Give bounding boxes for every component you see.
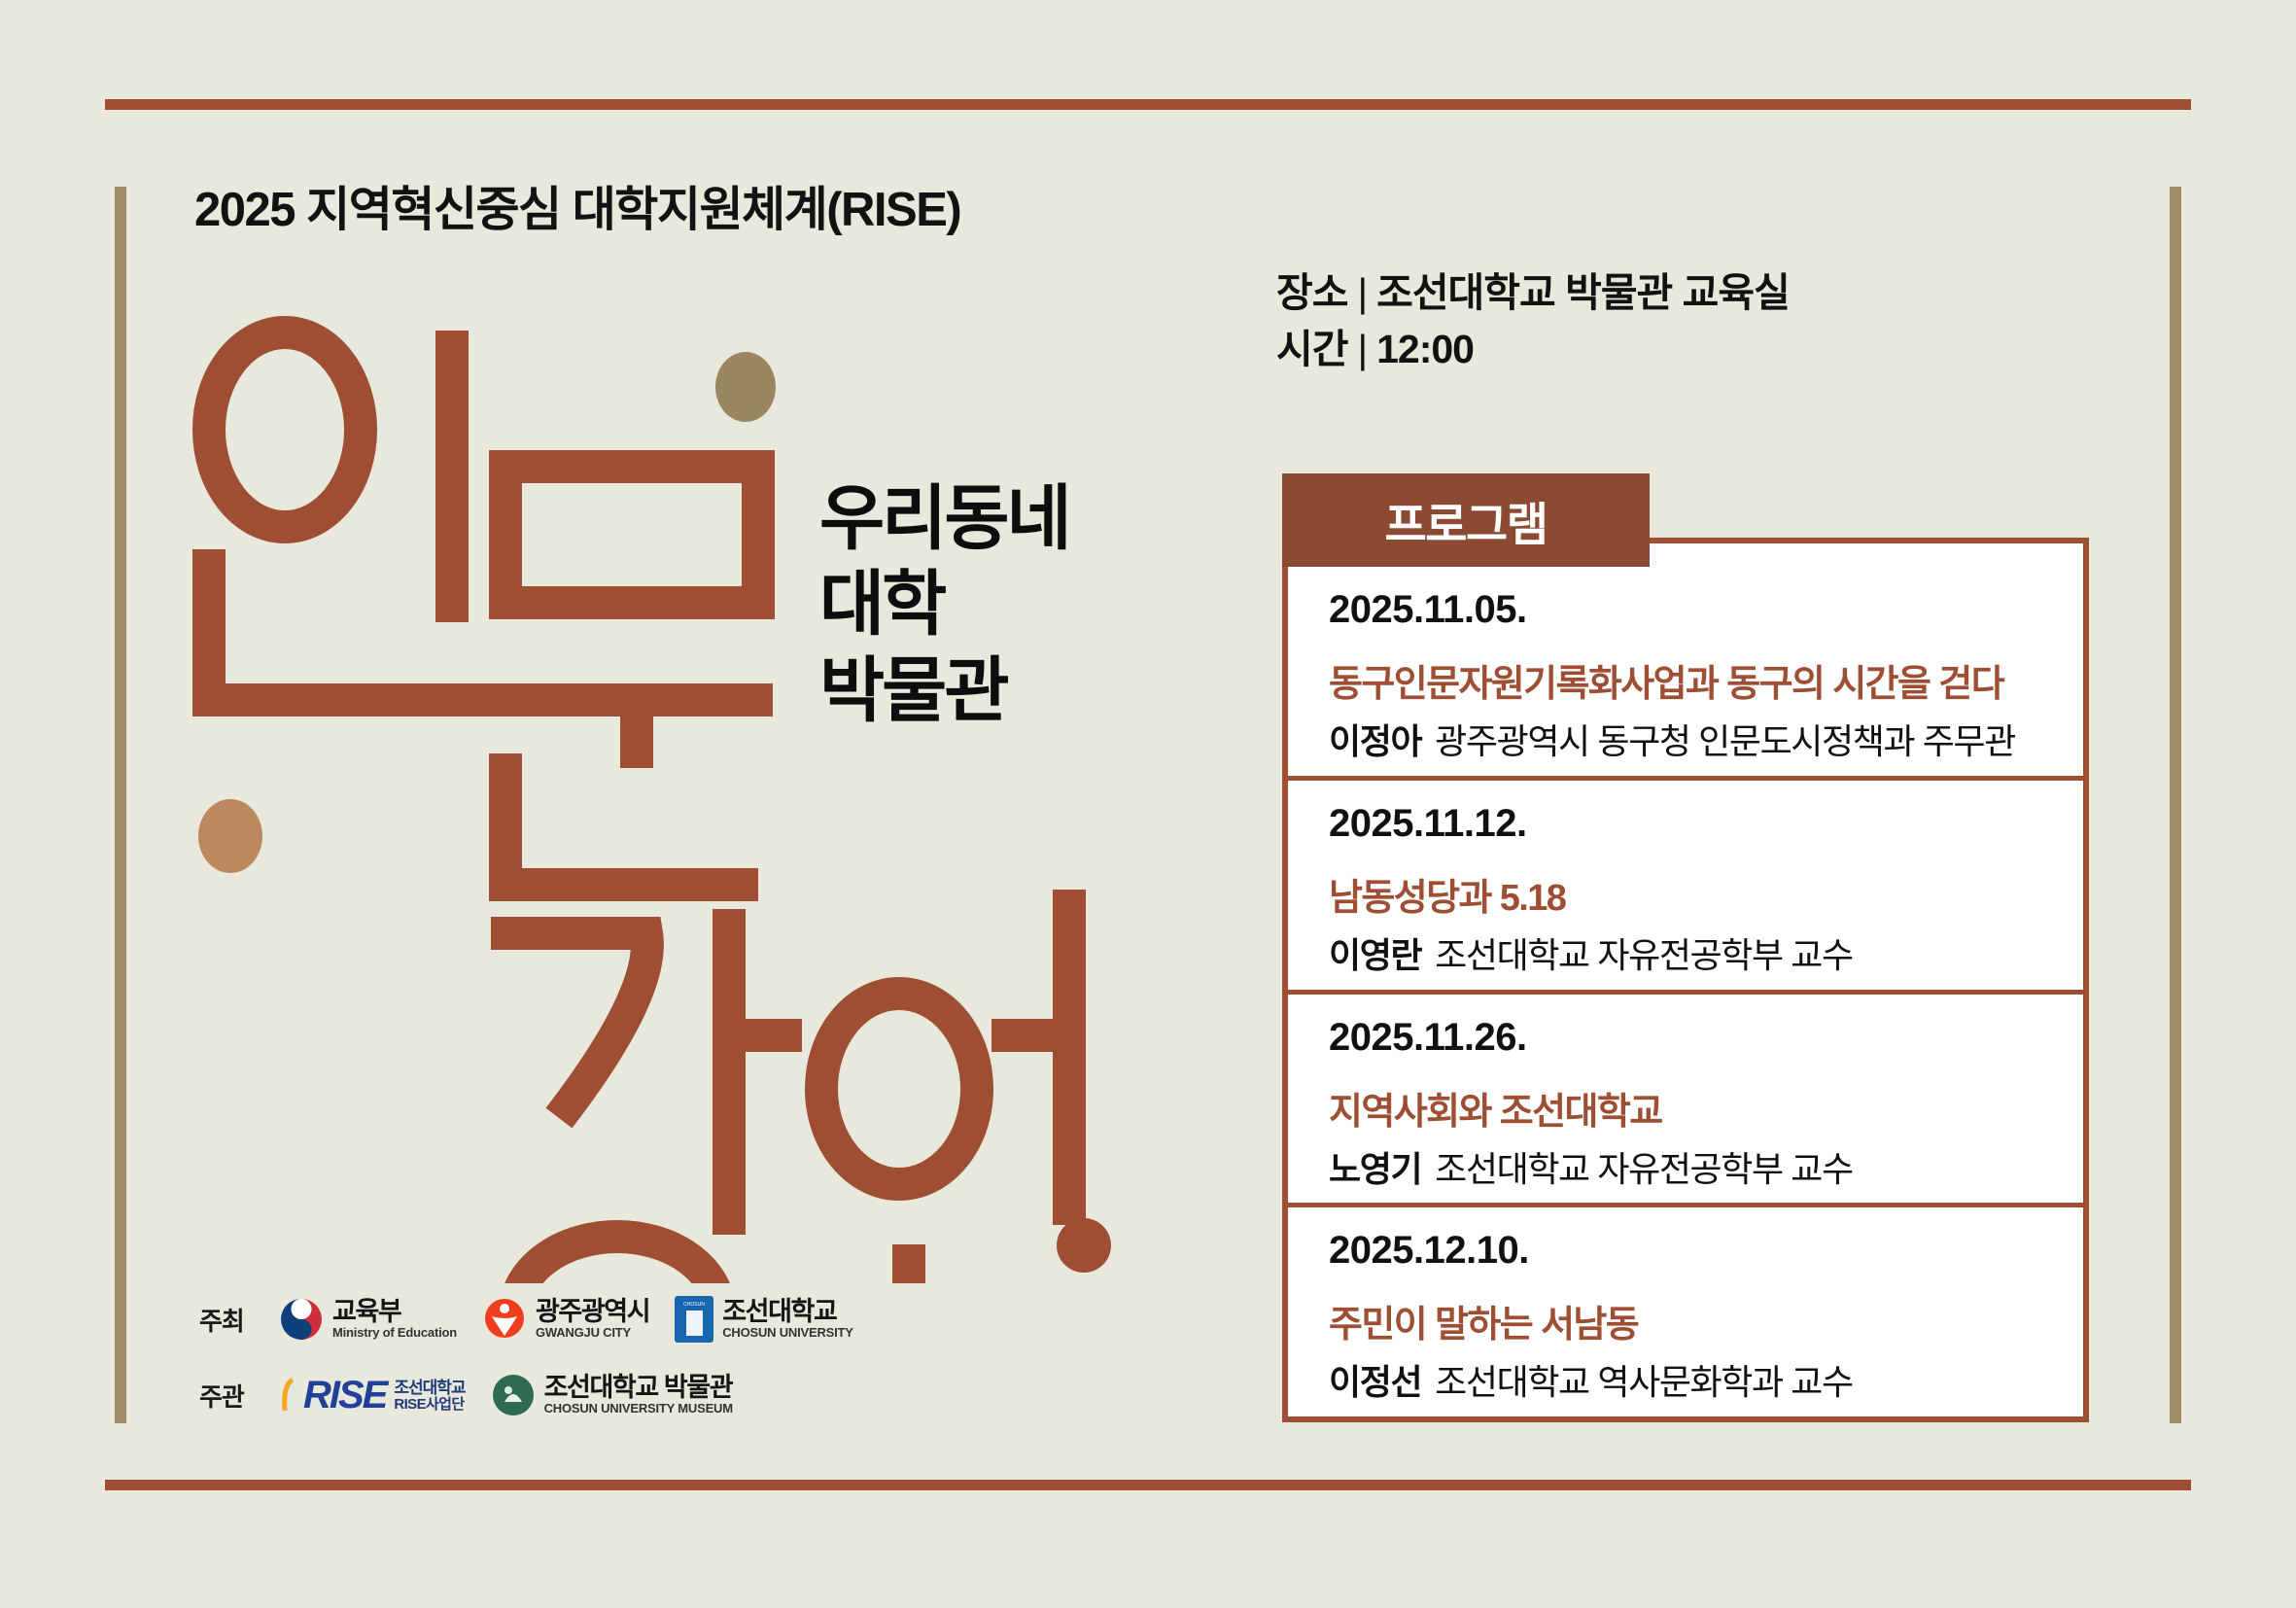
- place-value: 조선대학교 박물관 교육실: [1376, 270, 1790, 315]
- hero-subtitle-line-1: 우리동네: [819, 476, 1069, 562]
- logo-name-ko-2: RISE사업단: [394, 1397, 465, 1412]
- program-date: 2025.11.05.: [1329, 588, 2042, 632]
- host-row: 주최 교육부 Ministry of Education: [199, 1281, 899, 1357]
- poster-canvas: 2025 지역혁신중심 대학지원체계(RISE) 장소|조선대학교 박물관 교육…: [0, 0, 2296, 1608]
- time-value: 12:00: [1376, 327, 1474, 371]
- program-speaker-name: 이정선: [1329, 1362, 1421, 1402]
- logo-gwangju-city: 광주광역시 GWANGJU CITY: [482, 1297, 649, 1342]
- program-speaker-name: 이영란: [1329, 935, 1421, 975]
- hero-subtitle-line-2: 대학: [819, 562, 1069, 647]
- logo-name-en: GWANGJU CITY: [536, 1326, 649, 1339]
- svg-text:CHOSUN: CHOSUN: [683, 1302, 705, 1308]
- taegeuk-icon: [279, 1297, 324, 1342]
- glyph-mieum: [505, 467, 758, 603]
- program-date: 2025.11.12.: [1329, 802, 2042, 846]
- program-speaker-name: 노영기: [1329, 1149, 1421, 1189]
- rise-swoosh-icon: [279, 1376, 295, 1415]
- program-item: 2025.11.26. 지역사회와 조선대학교 노영기조선대학교 자유전공학부 …: [1288, 995, 2083, 1208]
- program-kicker: 2025 지역혁신중심 대학지원체계(RISE): [194, 171, 960, 240]
- time-separator: |: [1347, 327, 1376, 371]
- decorative-dot-brown: [1057, 1218, 1111, 1273]
- hero-lettering-svg: [170, 311, 1176, 1283]
- program-item: 2025.12.10. 주민이 말하는 서남동 이정선조선대학교 역사문화학과 …: [1288, 1207, 2083, 1416]
- organizer-row: 주관 RISE 조선대학교 RISE사업단 조선대학교 박물관: [199, 1357, 899, 1433]
- logo-chosun-university-museum: 조선대학교 박물관 CHOSUN UNIVERSITY MUSEUM: [491, 1373, 733, 1417]
- right-accent-bar: [2170, 187, 2181, 1423]
- program-speaker-affiliation: 조선대학교 자유전공학부 교수: [1421, 935, 1853, 975]
- program-speaker-affiliation: 조선대학교 역사문화학과 교수: [1421, 1362, 1853, 1402]
- logo-name-ko: 조선대학교 박물관: [544, 1375, 733, 1402]
- organizer-label: 주관: [199, 1378, 279, 1414]
- logo-text: 광주광역시 GWANGJU CITY: [536, 1299, 649, 1339]
- program-title: 주민이 말하는 서남동: [1329, 1294, 2042, 1347]
- program-speaker-affiliation: 조선대학교 자유전공학부 교수: [1421, 1149, 1853, 1189]
- event-details: 장소|조선대학교 박물관 교육실 시간|12:00: [1276, 264, 1790, 377]
- program-date: 2025.11.26.: [1329, 1016, 2042, 1060]
- logo-name-en: CHOSUN UNIVERSITY MUSEUM: [544, 1402, 733, 1415]
- program-speaker: 이정아광주광역시 동구청 인문도시정책과 주무관: [1329, 714, 2042, 764]
- hero-lettering: [170, 311, 1176, 1283]
- bottom-rule: [105, 1480, 2191, 1490]
- logo-text: 조선대학교 박물관 CHOSUN UNIVERSITY MUSEUM: [544, 1375, 733, 1415]
- place-line: 장소|조선대학교 박물관 교육실: [1276, 264, 1790, 321]
- glyph-ieung-3: [821, 994, 977, 1184]
- program-date: 2025.12.10.: [1329, 1229, 2042, 1273]
- program-speaker: 이정선조선대학교 역사문화학과 교수: [1329, 1354, 2042, 1405]
- hero-subtitle-line-3: 박물관: [819, 648, 1069, 734]
- logo-name-en: Ministry of Education: [332, 1326, 457, 1339]
- program-title: 동구인문자원기록화사업과 동구의 시간을 걷다: [1329, 653, 2042, 707]
- program-tab-label: 프로그램: [1385, 487, 1548, 554]
- logo-name-ko: 조선대학교: [722, 1299, 853, 1326]
- program-speaker-name: 이정아: [1329, 721, 1421, 761]
- logo-text: 조선대학교 RISE사업단: [394, 1379, 465, 1412]
- time-line: 시간|12:00: [1276, 321, 1790, 377]
- gwangju-emblem-icon: [482, 1297, 527, 1342]
- logo-name-ko: 광주광역시: [536, 1299, 649, 1326]
- program-tab: 프로그램: [1282, 473, 1650, 567]
- logo-name-ko: 조선대학교: [394, 1379, 465, 1397]
- glyph-nieun-2: [505, 753, 758, 885]
- credits-block: 주최 교육부 Ministry of Education: [199, 1281, 899, 1433]
- logo-ministry-of-education: 교육부 Ministry of Education: [279, 1297, 457, 1342]
- logo-chosun-university: CHOSUN 조선대학교 CHOSUN UNIVERSITY: [675, 1296, 853, 1343]
- left-accent-bar: [115, 187, 126, 1423]
- time-label: 시간: [1276, 327, 1347, 371]
- logo-name-ko: 교육부: [332, 1299, 457, 1326]
- decorative-dot-tan: [198, 799, 262, 873]
- logo-text: 교육부 Ministry of Education: [332, 1299, 457, 1339]
- program-title: 지역사회와 조선대학교: [1329, 1081, 2042, 1135]
- place-separator: |: [1347, 270, 1376, 315]
- place-label: 장소: [1276, 270, 1347, 315]
- program-title: 남동성당과 5.18: [1329, 867, 2042, 921]
- logo-rise-project-group: RISE 조선대학교 RISE사업단: [279, 1376, 466, 1415]
- program-item: 2025.11.05. 동구인문자원기록화사업과 동구의 시간을 걷다 이정아광…: [1288, 567, 2083, 781]
- logo-text: 조선대학교 CHOSUN UNIVERSITY: [722, 1299, 853, 1339]
- glyph-giyeok: [491, 933, 647, 1118]
- rise-wordmark: RISE: [303, 1376, 386, 1415]
- glyph-ieung-2: [515, 1237, 719, 1283]
- museum-emblem-icon: [491, 1373, 536, 1417]
- program-speaker: 이영란조선대학교 자유전공학부 교수: [1329, 927, 2042, 978]
- top-rule: [105, 99, 2191, 110]
- decorative-dot-khaki: [715, 352, 776, 422]
- logo-name-en: CHOSUN UNIVERSITY: [722, 1326, 853, 1339]
- glyph-ieung: [209, 332, 361, 527]
- chosun-shield-icon: CHOSUN: [675, 1296, 713, 1343]
- program-list: 2025.11.05. 동구인문자원기록화사업과 동구의 시간을 걷다 이정아광…: [1288, 567, 2083, 1416]
- program-speaker: 노영기조선대학교 자유전공학부 교수: [1329, 1141, 2042, 1192]
- program-speaker-affiliation: 광주광역시 동구청 인문도시정책과 주무관: [1421, 721, 2015, 761]
- program-item: 2025.11.12. 남동성당과 5.18 이영란조선대학교 자유전공학부 교…: [1288, 781, 2083, 995]
- hero-subtitle: 우리동네 대학 박물관: [819, 476, 1069, 734]
- host-label: 주최: [199, 1302, 279, 1338]
